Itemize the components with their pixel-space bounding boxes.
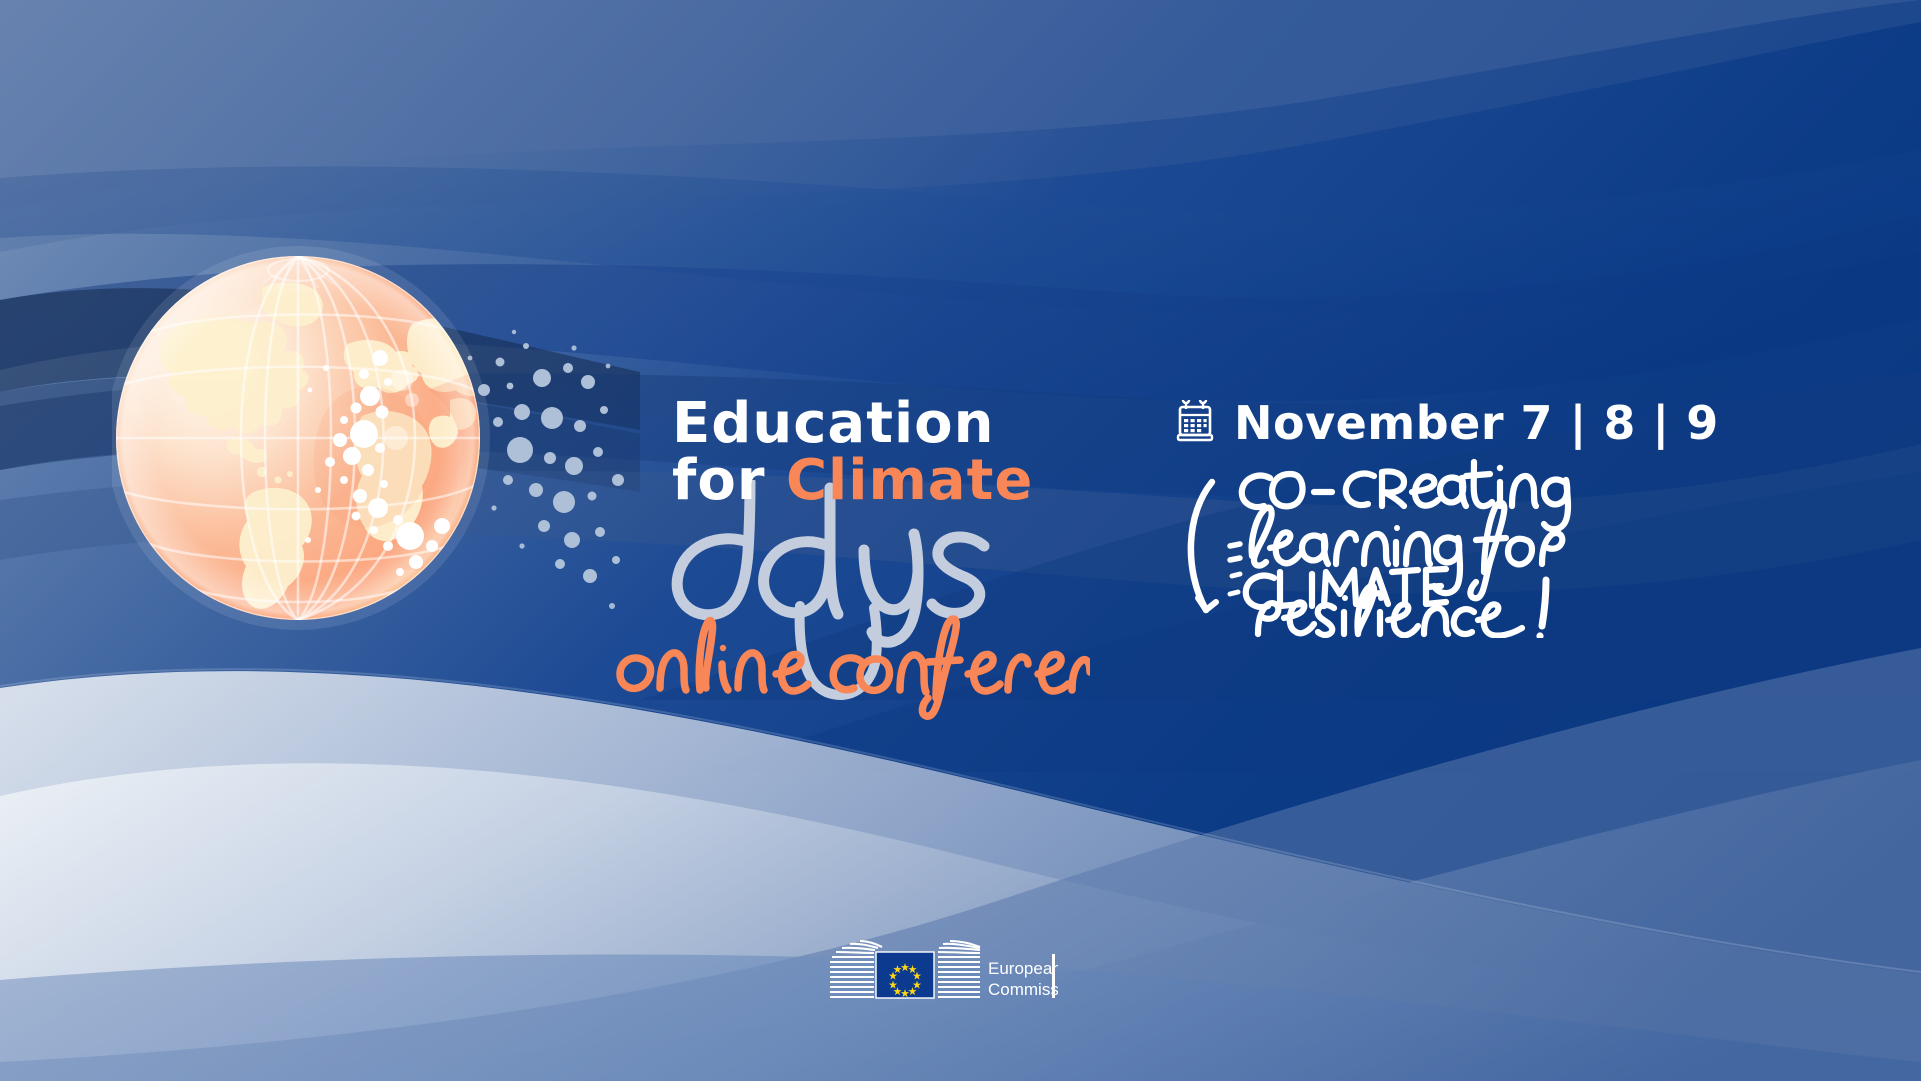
- globe-illustration: [112, 240, 632, 660]
- logo-line-1-text: European: [988, 959, 1058, 978]
- slogan-handwritten: [1178, 448, 1598, 638]
- headline-line-2: for Climate: [672, 452, 1033, 509]
- headline-line-2-plain: for: [672, 448, 786, 513]
- headline-line-2-accent: Climate: [786, 448, 1033, 513]
- date-text: November 7 | 8 | 9: [1234, 396, 1719, 450]
- banner-root: Education for Climate: [0, 0, 1921, 1081]
- european-commission-logo: European Commission: [828, 940, 1058, 1012]
- headline-line-1: Education: [672, 395, 1033, 452]
- headline-block: Education for Climate: [672, 395, 1033, 509]
- logo-line-2-text: Commission: [988, 980, 1058, 999]
- online-conference-script: [610, 600, 1090, 725]
- calendar-icon: [1176, 400, 1216, 447]
- date-row: November 7 | 8 | 9: [1176, 396, 1719, 450]
